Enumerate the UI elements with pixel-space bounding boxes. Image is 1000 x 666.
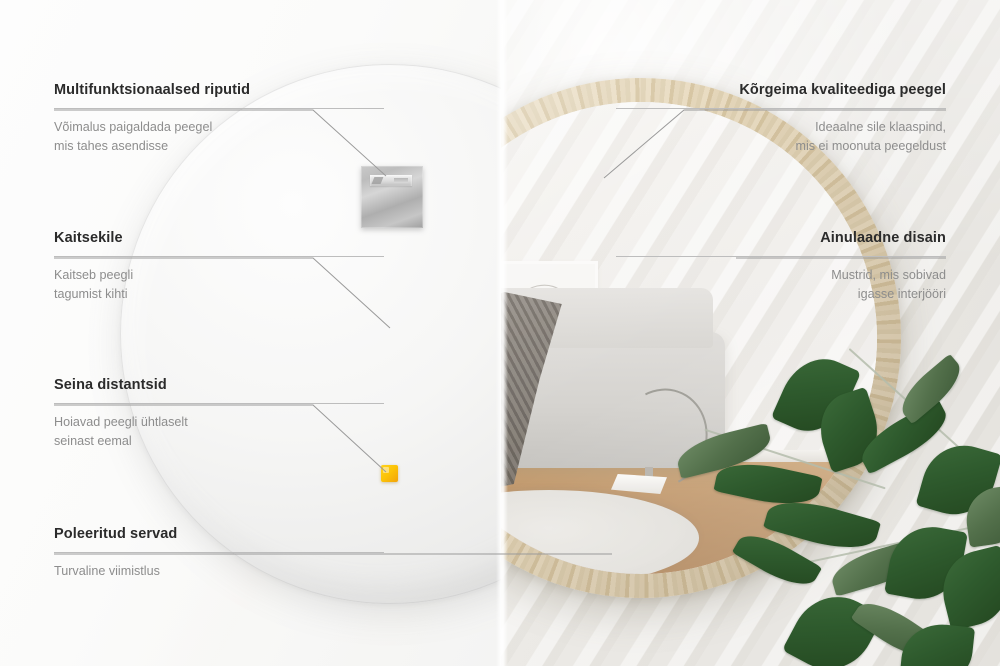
callout-desc-line1: Võimalus paigaldada peegel [54, 120, 212, 134]
callout-quality-mirror: Kõrgeima kvaliteediga peegel Ideaalne si… [616, 82, 946, 155]
callout-description: Turvaline viimistlus [54, 562, 384, 580]
hanging-bracket-icon [361, 166, 423, 228]
callout-rule [54, 256, 384, 257]
callout-description: Hoiavad peegli ühtlaselt seinast eemal [54, 413, 384, 450]
wall-spacer-icon [381, 465, 398, 482]
callout-rule [616, 108, 946, 109]
callout-rule [54, 552, 384, 553]
callout-description: Kaitseb peegli tagumist kihti [54, 266, 384, 303]
callout-wall-spacers: Seina distantsid Hoiavad peegli ühtlasel… [54, 377, 384, 450]
callout-protective-film: Kaitsekile Kaitseb peegli tagumist kihti [54, 230, 384, 303]
callout-desc-line2: mis tahes asendisse [54, 139, 168, 153]
callout-hangers: Multifunktsionaalsed riputid Võimalus pa… [54, 82, 384, 155]
callout-desc-line2: seinast eemal [54, 434, 132, 448]
callout-unique-design: Ainulaadne disain Mustrid, mis sobivad i… [616, 230, 946, 303]
callout-rule [616, 256, 946, 257]
callout-description: Mustrid, mis sobivad igasse interjööri [616, 266, 946, 303]
callout-desc-line1: Ideaalne sile klaaspind, [815, 120, 946, 134]
callout-rule [54, 403, 384, 404]
callout-desc-line2: mis ei moonuta peegeldust [795, 139, 946, 153]
callout-description: Ideaalne sile klaaspind, mis ei moonuta … [616, 118, 946, 155]
callout-title: Poleeritud servad [54, 526, 384, 543]
callout-desc-line1: Kaitseb peegli [54, 268, 133, 282]
foliage-decoration [680, 338, 1000, 666]
callout-rule [54, 108, 384, 109]
callout-desc-line1: Turvaline viimistlus [54, 564, 160, 578]
callout-desc-line2: igasse interjööri [858, 287, 946, 301]
callout-title: Seina distantsid [54, 377, 384, 394]
callout-desc-line1: Hoiavad peegli ühtlaselt [54, 415, 188, 429]
callout-polished-edges: Poleeritud servad Turvaline viimistlus [54, 526, 384, 581]
callout-desc-line2: tagumist kihti [54, 287, 128, 301]
callout-title: Multifunktsionaalsed riputid [54, 82, 384, 99]
callout-title: Kaitsekile [54, 230, 384, 247]
infographic-canvas: Multifunktsionaalsed riputid Võimalus pa… [0, 0, 1000, 666]
callout-title: Kõrgeima kvaliteediga peegel [616, 82, 946, 99]
panel-seam [496, 0, 508, 666]
callout-title: Ainulaadne disain [616, 230, 946, 247]
bracket-keyhole-slot [370, 175, 412, 186]
callout-description: Võimalus paigaldada peegel mis tahes ase… [54, 118, 384, 155]
callout-desc-line1: Mustrid, mis sobivad [831, 268, 946, 282]
